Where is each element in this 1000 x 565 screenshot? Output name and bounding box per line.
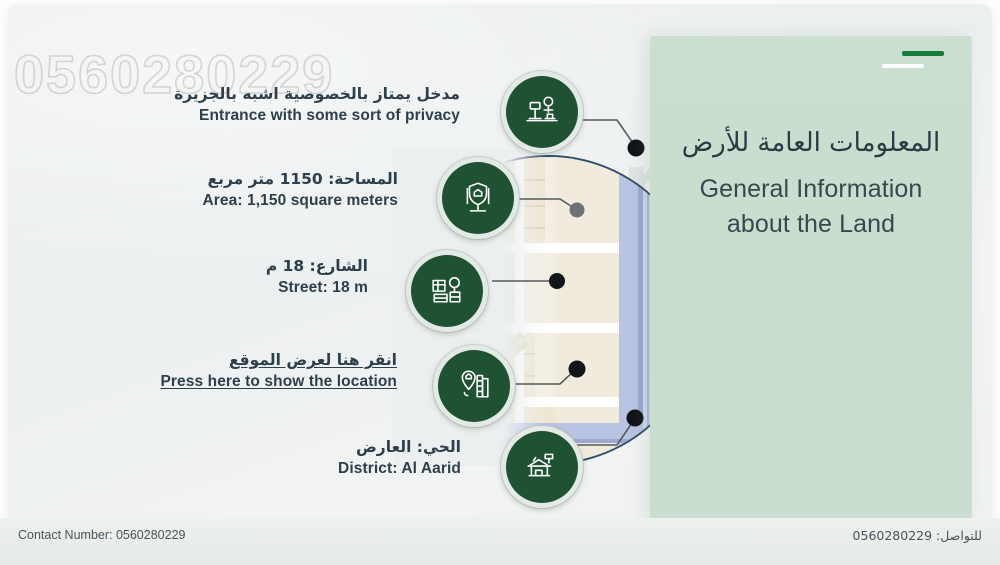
panel-title-arabic: المعلومات العامة للأرض bbox=[650, 126, 972, 161]
feature-en-district: District: Al Aarid bbox=[338, 458, 461, 480]
feature-ar-street: الشارع: 18 م bbox=[266, 256, 368, 277]
location-pin-icon bbox=[457, 367, 491, 406]
feature-icon-district[interactable] bbox=[501, 426, 583, 508]
accent-dash-green bbox=[902, 51, 944, 56]
feature-text-street: الشارع: 18 م Street: 18 m bbox=[266, 256, 368, 299]
panel-title-english: General Information about the Land bbox=[650, 172, 972, 241]
slide-canvas: 0560280229 aqar sa.aqar.com bbox=[0, 0, 1000, 565]
footer-contact-en: Contact Number: 0560280229 bbox=[18, 528, 185, 542]
general-info-panel: المعلومات العامة للأرض General Informati… bbox=[650, 36, 972, 522]
footer-contact-ar: للتواصل: 0560280229 bbox=[853, 528, 982, 543]
street-map-icon bbox=[430, 272, 464, 311]
feature-en-street: Street: 18 m bbox=[266, 277, 368, 299]
privacy-entrance-icon bbox=[525, 93, 559, 132]
feature-icon-location[interactable] bbox=[433, 345, 515, 427]
feature-ar-privacy: مدخل يمتاز بالخصوصية اشبه بالجزيرة bbox=[174, 84, 460, 105]
feature-en-area: Area: 1,150 square meters bbox=[202, 190, 398, 212]
feature-ar-location[interactable]: انقر هنا لعرض الموقع bbox=[160, 350, 397, 371]
panel-title-english-line2: about the Land bbox=[650, 207, 972, 242]
feature-icon-area[interactable] bbox=[437, 157, 519, 239]
feature-text-location-link[interactable]: انقر هنا لعرض الموقع Press here to show … bbox=[160, 350, 397, 393]
feature-icon-street[interactable] bbox=[406, 250, 488, 332]
feature-en-privacy: Entrance with some sort of privacy bbox=[174, 105, 460, 127]
feature-icon-privacy[interactable] bbox=[501, 71, 583, 153]
feature-text-district: الحي: العارض District: Al Aarid bbox=[338, 437, 461, 480]
district-house-icon bbox=[525, 448, 559, 487]
feature-ar-district: الحي: العارض bbox=[338, 437, 461, 458]
feature-text-area: المساحة: 1150 متر مربع Area: 1,150 squar… bbox=[202, 169, 398, 212]
accent-dash-white bbox=[882, 64, 924, 68]
land-shield-icon bbox=[461, 179, 495, 218]
feature-text-privacy: مدخل يمتاز بالخصوصية اشبه بالجزيرة Entra… bbox=[174, 84, 460, 127]
feature-ar-area: المساحة: 1150 متر مربع bbox=[202, 169, 398, 190]
feature-en-location[interactable]: Press here to show the location bbox=[160, 371, 397, 393]
panel-title-english-line1: General Information bbox=[650, 172, 972, 207]
